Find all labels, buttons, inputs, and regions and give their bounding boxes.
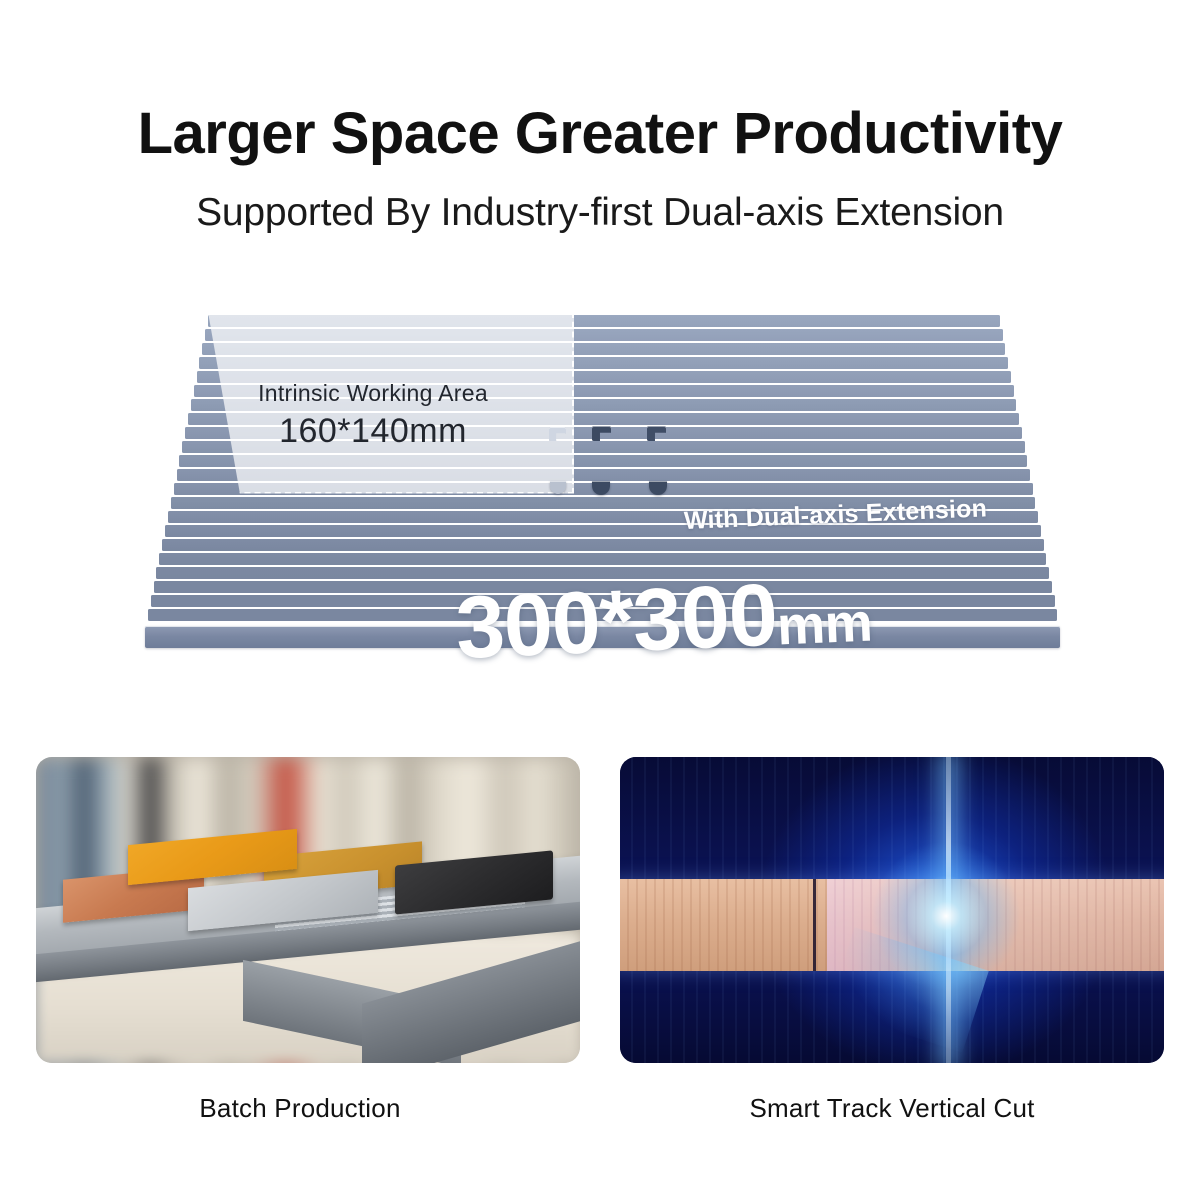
bed-slat — [199, 357, 1008, 369]
extension-size-value: 300*300 — [454, 565, 779, 677]
bed-slat — [202, 343, 1005, 355]
smart-track-vertical-cut-photo — [620, 757, 1164, 1063]
intrinsic-area-size: 160*140mm — [208, 411, 538, 451]
intrinsic-area-title: Intrinsic Working Area — [208, 380, 538, 407]
intrinsic-area-label: Intrinsic Working Area 160*140mm — [208, 380, 538, 451]
batch-production-photo — [36, 757, 580, 1063]
bed-slat — [159, 553, 1046, 565]
laser-flare — [871, 841, 1021, 991]
cut-kerf-line — [813, 879, 816, 971]
batch-production-caption: Batch Production — [20, 1093, 580, 1124]
page-subtitle: Supported By Industry-first Dual-axis Ex… — [0, 190, 1200, 237]
extension-size-unit: mm — [776, 593, 873, 657]
extension-size: 300*300mm — [454, 560, 874, 679]
bed-slat — [177, 469, 1031, 481]
bed-slat — [162, 539, 1043, 551]
bed-slat — [165, 525, 1041, 537]
product-feature-page: Larger Space Greater Productivity Suppor… — [0, 0, 1200, 1200]
bed-slat — [205, 329, 1003, 341]
bed-slat — [208, 315, 1000, 327]
page-title: Larger Space Greater Productivity — [0, 104, 1200, 165]
smart-track-vertical-cut-caption: Smart Track Vertical Cut — [612, 1093, 1172, 1124]
bed-slat — [179, 455, 1027, 467]
working-area-diagram: Intrinsic Working Area 160*140mm With Du… — [0, 285, 1200, 685]
